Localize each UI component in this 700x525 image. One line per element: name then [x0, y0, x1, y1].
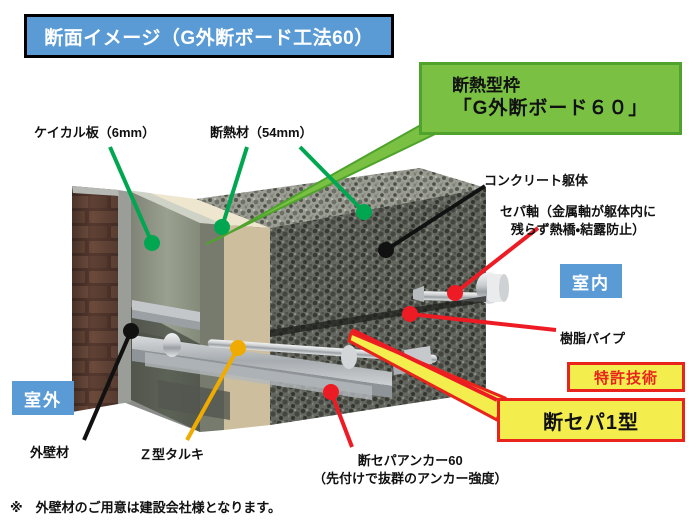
- label-concrete-frame: コンクリート躯体: [484, 172, 588, 190]
- label-keikal-board: ケイカル板（6mm）: [34, 124, 155, 142]
- keikal-board-layer: [127, 190, 224, 432]
- danseppa-product-box: 断セパ1型: [497, 398, 685, 442]
- green-callout-box: 断熱型枠 「G外断ボード６０」: [419, 62, 682, 135]
- label-exterior-wall: 外壁材: [30, 444, 69, 462]
- title-text: 断面イメージ（G外断ボード工法60）: [44, 23, 374, 50]
- sepa-rod-upper: [413, 272, 509, 304]
- patent-badge-label: 特許技術: [594, 367, 658, 388]
- danseppa-pointer: [349, 333, 505, 420]
- indoor-tag-label: 室内: [572, 269, 610, 294]
- title-banner: 断面イメージ（G外断ボード工法60）: [24, 14, 394, 58]
- label-insulation: 断熱材（54mm）: [210, 124, 313, 142]
- air-cavity: [118, 300, 200, 432]
- label-sepa-shaft: セパ軸（金属軸が躯体内に 残らず熱橋・結露防止）: [500, 203, 656, 238]
- label-anchor-line1: 断セパアンカー60: [313, 452, 507, 470]
- outdoor-tag-label: 室外: [24, 386, 62, 411]
- outdoor-tag: 室外: [12, 381, 74, 415]
- indoor-tag: 室内: [560, 264, 622, 298]
- footnote: ※ 外壁材のご用意は建設会社様となります。: [10, 497, 281, 516]
- z-furring-bracket: [132, 300, 392, 420]
- green-callout-line1: 断熱型枠: [452, 75, 520, 97]
- label-anchor: 断セパアンカー60 （先付けで抜群のアンカー強度）: [313, 452, 507, 487]
- exterior-brick-panel: [72, 186, 131, 412]
- label-resin-pipe: 樹脂パイプ: [560, 330, 625, 348]
- danseppa-product-label: 断セパ1型: [543, 406, 639, 435]
- green-callout-line2: 「G外断ボード６０」: [453, 97, 649, 121]
- sepa-rod-lower: [163, 333, 437, 375]
- label-sepa-shaft-line1: セパ軸（金属軸が躯体内に: [500, 203, 656, 221]
- label-anchor-line2: （先付けで抜群のアンカー強度）: [313, 470, 507, 488]
- concrete-frame-block: [193, 160, 486, 425]
- green-leaders: [110, 147, 370, 249]
- label-z-furring: Ｚ型タルキ: [139, 446, 204, 464]
- concrete-joint: [270, 296, 486, 337]
- black-leaders: [84, 186, 485, 440]
- insulation-layer: [150, 193, 270, 430]
- patent-badge: 特許技術: [567, 362, 685, 392]
- label-sepa-shaft-line2: 残らず熱橋・結露防止）: [500, 221, 656, 239]
- yellow-leader: [187, 342, 244, 440]
- green-callout-pointer: [206, 126, 433, 244]
